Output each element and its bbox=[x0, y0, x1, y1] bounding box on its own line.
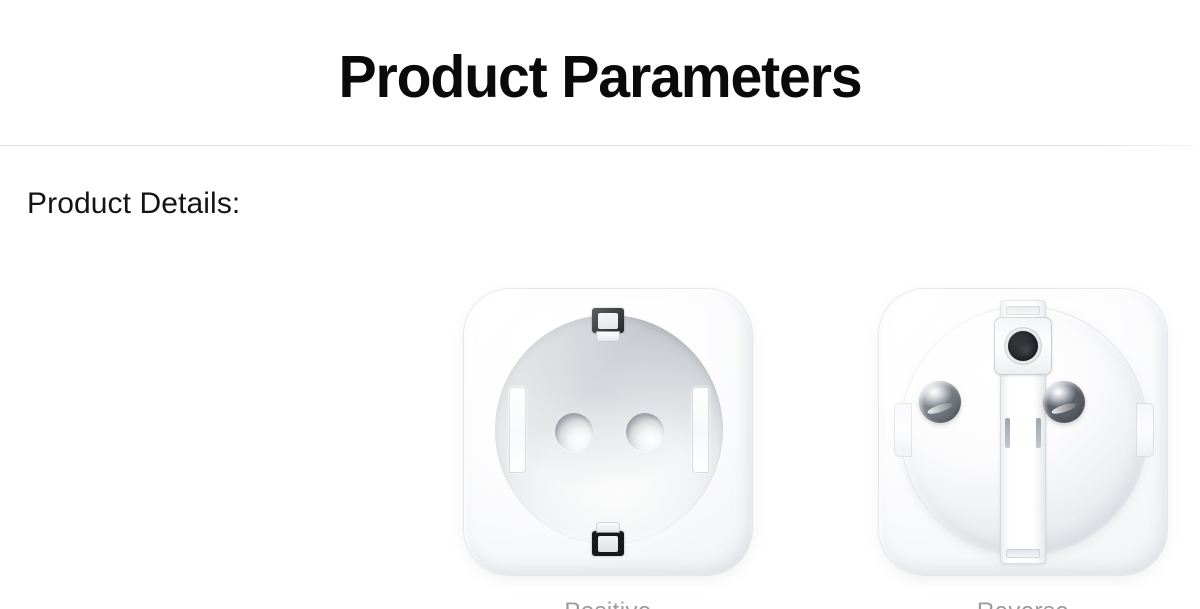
recess-shading bbox=[495, 315, 723, 545]
schuko-socket-front-icon bbox=[464, 289, 752, 575]
product-parameters-page: Product Parameters Product Details: bbox=[0, 0, 1200, 609]
plug-pin-right bbox=[1043, 381, 1085, 423]
product-figure-positive[interactable]: Positive bbox=[458, 284, 758, 609]
earth-contact-clip-bottom bbox=[592, 531, 624, 556]
socket-pin-hole-left bbox=[555, 413, 593, 451]
header-divider bbox=[0, 145, 1200, 146]
plug-pin-left bbox=[919, 381, 961, 423]
rail-slot-left bbox=[1005, 418, 1010, 448]
plug-body-notch-left bbox=[894, 403, 912, 457]
rail-cap-top bbox=[1006, 306, 1040, 315]
earth-pin-hole bbox=[1008, 331, 1038, 361]
figure-caption-positive: Positive bbox=[458, 597, 758, 609]
product-figure-reverse[interactable]: Reverse bbox=[873, 284, 1173, 609]
socket-pin-hole-right bbox=[626, 413, 664, 451]
earth-clip-tongue-bottom bbox=[597, 523, 619, 532]
figure-caption-reverse: Reverse bbox=[873, 597, 1173, 609]
socket-recess bbox=[495, 315, 723, 545]
schuko-plug-back-icon bbox=[879, 289, 1167, 575]
socket-guide-slot-left bbox=[509, 387, 526, 473]
socket-guide-slot-right bbox=[692, 387, 709, 473]
earth-clip-tongue-top bbox=[597, 332, 619, 341]
earth-clip-inner-bottom bbox=[598, 536, 618, 552]
page-title: Product Parameters bbox=[18, 42, 1182, 112]
plug-body-notch-right bbox=[1136, 403, 1154, 457]
product-image-gallery: Positive bbox=[0, 268, 1200, 609]
earth-socket-housing bbox=[994, 317, 1052, 375]
rail-slot-right bbox=[1036, 418, 1041, 448]
rail-cap-bottom bbox=[1006, 549, 1040, 558]
product-details-label: Product Details: bbox=[27, 185, 240, 223]
earth-clip-inner-top bbox=[598, 313, 618, 329]
earth-contact-clip-top bbox=[592, 308, 624, 333]
